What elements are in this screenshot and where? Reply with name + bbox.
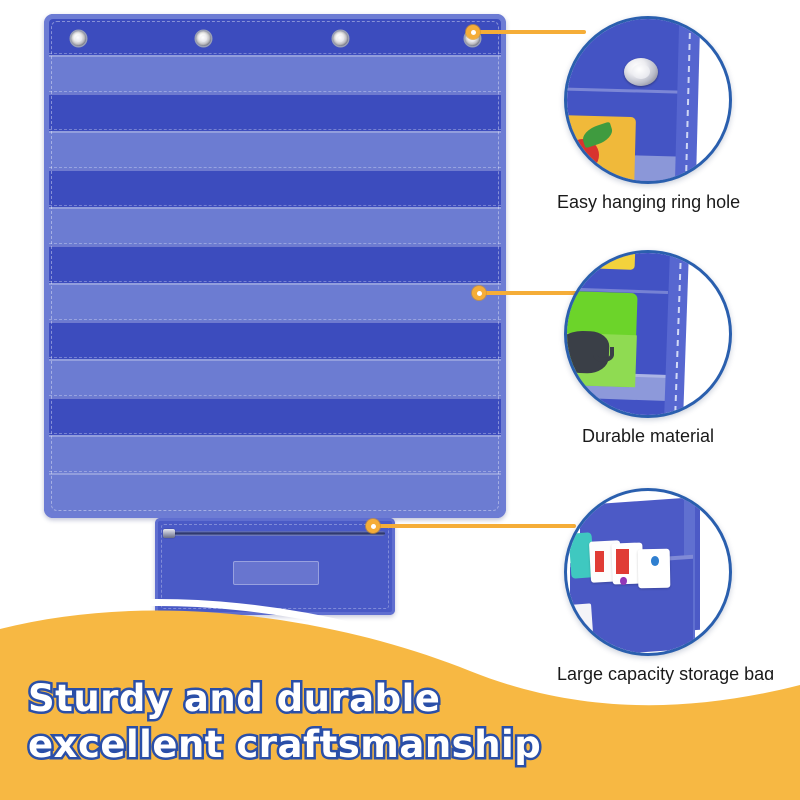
pocket-row bbox=[49, 207, 501, 245]
pocket-row bbox=[49, 321, 501, 359]
grommet-ring-icon bbox=[196, 31, 211, 46]
connector-dot-storage bbox=[366, 519, 380, 533]
pocket-row-bottom bbox=[49, 473, 501, 513]
grommet-ring-icon bbox=[333, 31, 348, 46]
connector-line-storage bbox=[376, 524, 576, 528]
product-infographic: Easy hanging ring hole Durable material bbox=[0, 0, 800, 800]
bag-label-patch bbox=[233, 561, 319, 585]
connector-dot-ring-hole bbox=[466, 25, 480, 39]
chart-header-band bbox=[49, 19, 501, 55]
pocket-row bbox=[49, 359, 501, 397]
callout-ring-hole: Easy hanging ring hole bbox=[557, 16, 739, 184]
headline-line-1: Sturdy and durable bbox=[28, 676, 541, 722]
pocket-row bbox=[49, 55, 501, 93]
pocket-row bbox=[49, 435, 501, 473]
pocket-row bbox=[49, 169, 501, 207]
pocket-chart-product-image bbox=[44, 14, 506, 518]
callout-image-material bbox=[564, 250, 732, 418]
callout-label-ring-hole: Easy hanging ring hole bbox=[557, 192, 739, 213]
callout-image-ring-hole bbox=[564, 16, 732, 184]
grommet-ring-icon bbox=[624, 58, 658, 86]
pocket-row bbox=[49, 93, 501, 131]
pocket-row bbox=[49, 397, 501, 435]
page-title: Sturdy and durable excellent craftsmansh… bbox=[28, 676, 541, 768]
grommet-ring-icon bbox=[71, 31, 86, 46]
pocket-row bbox=[49, 131, 501, 169]
pocket-row bbox=[49, 245, 501, 283]
connector-dot-material bbox=[472, 286, 486, 300]
pocket-row bbox=[49, 283, 501, 321]
zipper-icon bbox=[165, 531, 385, 536]
headline-line-2: excellent craftsmanship bbox=[28, 722, 541, 768]
callout-material: Durable material bbox=[557, 250, 739, 418]
callout-label-material: Durable material bbox=[557, 426, 739, 447]
